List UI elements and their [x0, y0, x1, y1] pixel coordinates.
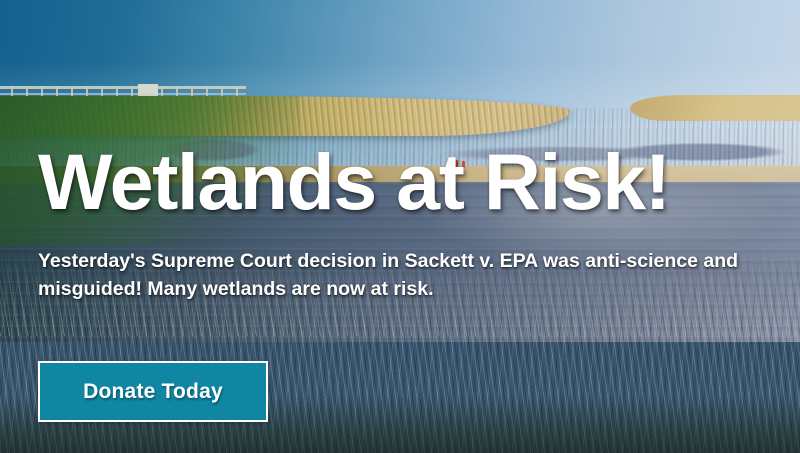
wetlands-hero-banner: Wetlands at Risk! Yesterday's Supreme Co…: [0, 0, 800, 453]
banner-subtitle: Yesterday's Supreme Court decision in Sa…: [38, 248, 783, 303]
page-title: Wetlands at Risk!: [38, 142, 670, 221]
donate-today-button[interactable]: Donate Today: [38, 361, 268, 422]
banner-content: Wetlands at Risk! Yesterday's Supreme Co…: [0, 0, 800, 453]
donate-button-label: Donate Today: [83, 380, 223, 404]
